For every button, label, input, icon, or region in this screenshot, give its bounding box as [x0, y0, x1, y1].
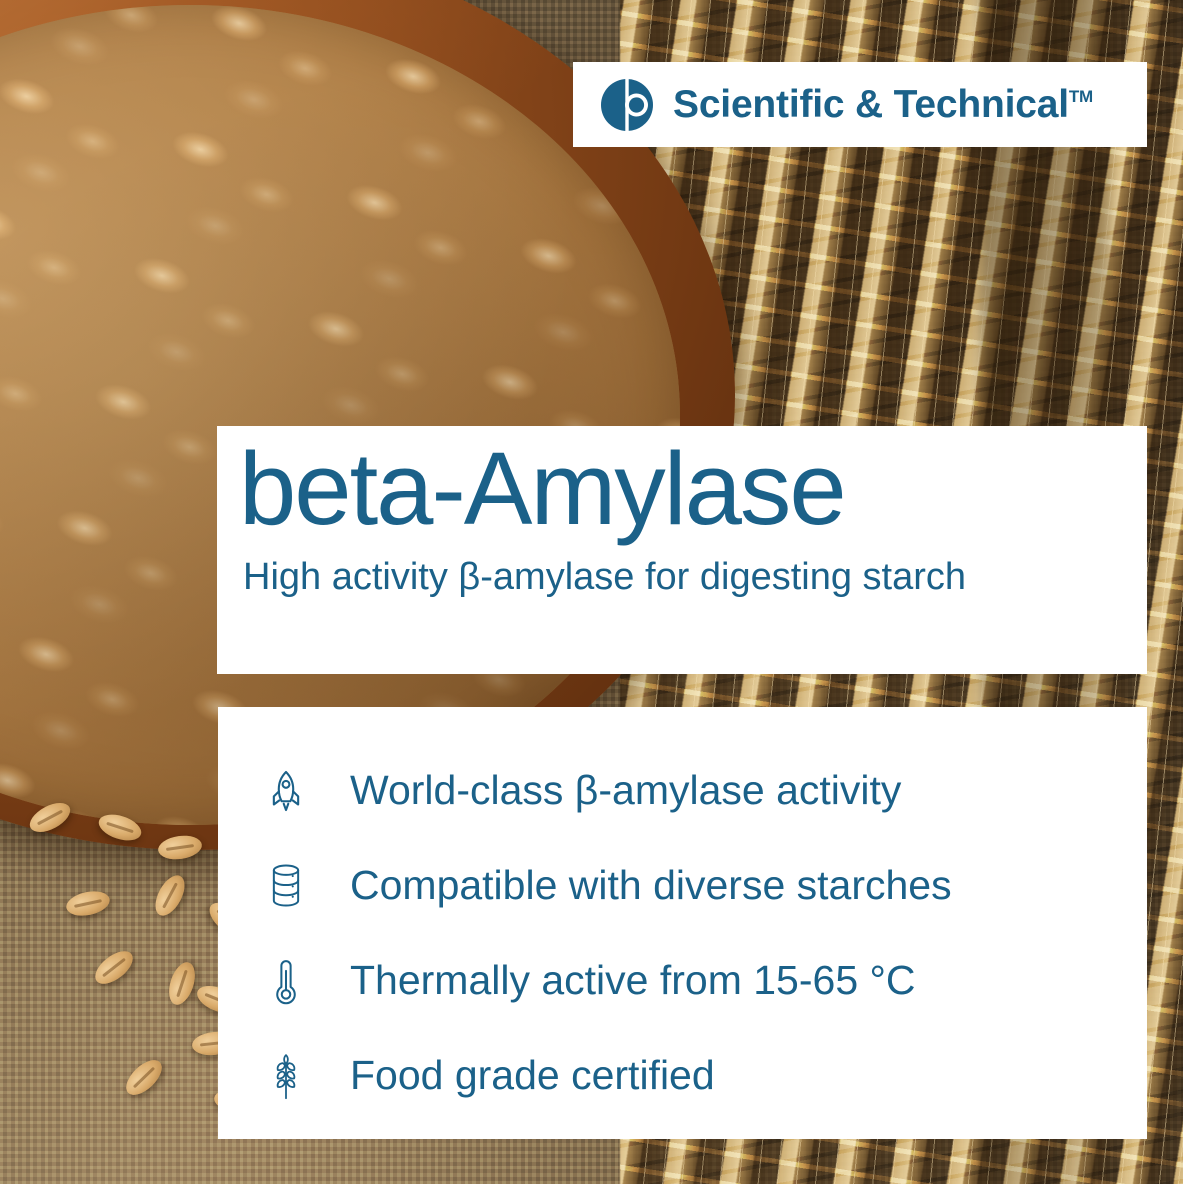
list-item: World-class β-amylase activity: [218, 743, 1147, 838]
list-item: Food grade certified: [218, 1028, 1147, 1123]
product-banner: Scientific & TechnicalTM beta-Amylase Hi…: [0, 0, 1183, 1184]
feature-list: World-class β-amylase activity Compatibl…: [218, 707, 1147, 1139]
split-circle-logo-icon: [599, 77, 655, 133]
list-item-label: World-class β-amylase activity: [350, 770, 901, 811]
rocket-icon: [260, 762, 312, 820]
product-subtitle: High activity β-amylase for digesting st…: [243, 555, 1119, 601]
list-item: Thermally active from 15-65 °C: [218, 933, 1147, 1028]
list-item-label: Thermally active from 15-65 °C: [350, 960, 916, 1001]
brand-name: Scientific & TechnicalTM: [673, 83, 1093, 127]
list-item: Compatible with diverse starches: [218, 838, 1147, 933]
product-title-card: beta-Amylase High activity β-amylase for…: [217, 426, 1147, 674]
database-icon: [260, 857, 312, 915]
thermometer-icon: [260, 952, 312, 1010]
brand-header: Scientific & TechnicalTM: [573, 62, 1147, 147]
list-item-label: Compatible with diverse starches: [350, 865, 952, 906]
page-title: beta-Amylase: [239, 436, 1119, 541]
brand-name-text: Scientific & Technical: [673, 83, 1069, 127]
list-item-label: Food grade certified: [350, 1055, 715, 1096]
trademark-mark: TM: [1069, 88, 1093, 105]
wheat-icon: [260, 1047, 312, 1105]
